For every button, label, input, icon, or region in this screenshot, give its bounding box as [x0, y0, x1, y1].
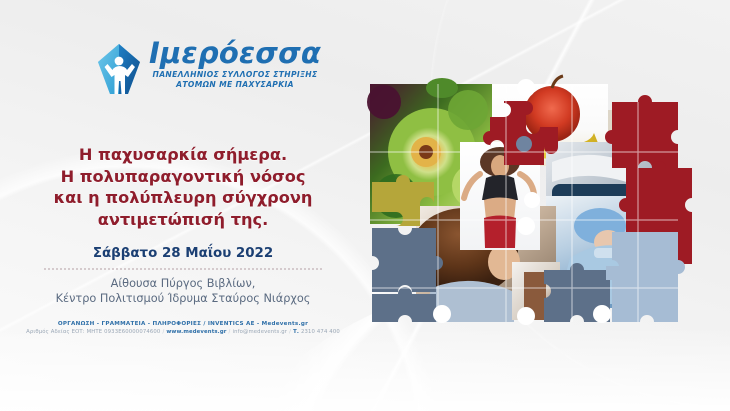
puzzle-knob-bottom-right: [593, 305, 611, 323]
puzzle-knob-blue-dot: [516, 136, 532, 152]
poster-left-column: Ιμερόεσσα ΠΑΝΕΛΛΗΝΙΟΣ ΣΥΛΛΟΓΟΣ ΣΤΗΡΙΞΗΣ …: [0, 0, 366, 411]
puzzle-piece-slate-1: [372, 228, 443, 292]
divider-rule: [44, 268, 322, 270]
organisation-logo: Ιμερόεσσα ΠΑΝΕΛΛΗΝΙΟΣ ΣΥΛΛΟΓΟΣ ΣΤΗΡΙΞΗΣ …: [96, 38, 321, 98]
footer-organiser: ΟΡΓΑΝΩΣΗ - ΓΡΑΜΜΑΤΕΙΑ - ΠΛΗΡΟΦΟΡΙΕΣ / IN…: [0, 320, 366, 328]
footer-phone-label: Τ.: [293, 328, 299, 336]
footer-contact-line: Αριθμός Αδείας ΕΟΤ: ΜΗΤΕ 0933Ε6000007460…: [0, 328, 366, 336]
puzzle-piece-dark-red-2: [605, 95, 678, 168]
headline-line-1: Η παχυσαρκία σήμερα.: [0, 144, 366, 166]
logo-subtitle-line2: ΑΤΟΜΩΝ ΜΕ ΠΑΧΥΣΑΡΚΙΑ: [149, 80, 321, 90]
event-date: Σάββατο 28 Μαΐου 2022: [0, 245, 366, 262]
footer-sep-2: /: [229, 328, 231, 336]
puzzle-knob-bottom-mid: [517, 307, 535, 325]
logo-wordmark: Ιμερόεσσα: [149, 38, 321, 68]
poster-footer: ΟΡΓΑΝΩΣΗ - ΓΡΑΜΜΑΤΕΙΑ - ΠΛΗΡΟΦΟΡΙΕΣ / IN…: [0, 320, 366, 336]
imeroessa-figure-logo-icon: [96, 42, 142, 98]
puzzle-piece-light-blue-3: [606, 266, 635, 280]
event-venue: Αίθουσα Πύργος Βιβλίων, Κέντρο Πολιτισμο…: [0, 276, 366, 306]
footer-email[interactable]: info@medevents.gr: [232, 328, 287, 336]
puzzle-knob-mid: [524, 192, 540, 208]
venue-line-2: Κέντρο Πολιτισμού Ίδρυμα Σταύρος Νιάρχος: [0, 291, 366, 306]
collage-svg: [356, 66, 702, 342]
puzzle-knob-top: [517, 79, 535, 97]
footer-sep-3: /: [289, 328, 291, 336]
footer-licence: Αριθμός Αδείας ΕΟΤ: ΜΗΤΕ 0933Ε6000007460…: [26, 328, 160, 336]
venue-line-1: Αίθουσα Πύργος Βιβλίων,: [0, 276, 366, 291]
footer-phone: 2310 474 400: [301, 328, 340, 336]
headline-line-4: αντιμετώπισή της.: [0, 209, 366, 231]
headline-line-3: και η πολύπλευρη σύγχρονη: [0, 187, 366, 209]
logo-subtitle-line1: ΠΑΝΕΛΛΗΝΙΟΣ ΣΥΛΛΟΓΟΣ ΣΤΗΡΙΞΗΣ: [149, 70, 321, 80]
puzzle-piece-dark-red-3: [619, 161, 692, 236]
event-poster: Ιμερόεσσα ΠΑΝΕΛΛΗΝΙΟΣ ΣΥΛΛΟΓΟΣ ΣΤΗΡΙΞΗΣ …: [0, 0, 730, 411]
jigsaw-photo-collage: [356, 66, 702, 342]
puzzle-piece-light-blue-2: [612, 290, 678, 322]
event-headline: Η παχυσαρκία σήμερα. Η πολυπαραγοντική ν…: [0, 144, 366, 230]
footer-website[interactable]: www.medevents.gr: [166, 328, 226, 336]
footer-sep-1: /: [162, 328, 164, 336]
puzzle-knob-bottom-left: [433, 305, 451, 323]
headline-line-2: Η πολυπαραγοντική νόσος: [0, 166, 366, 188]
logo-text-block: Ιμερόεσσα ΠΑΝΕΛΛΗΝΙΟΣ ΣΥΛΛΟΓΟΣ ΣΤΗΡΙΞΗΣ …: [149, 38, 321, 90]
